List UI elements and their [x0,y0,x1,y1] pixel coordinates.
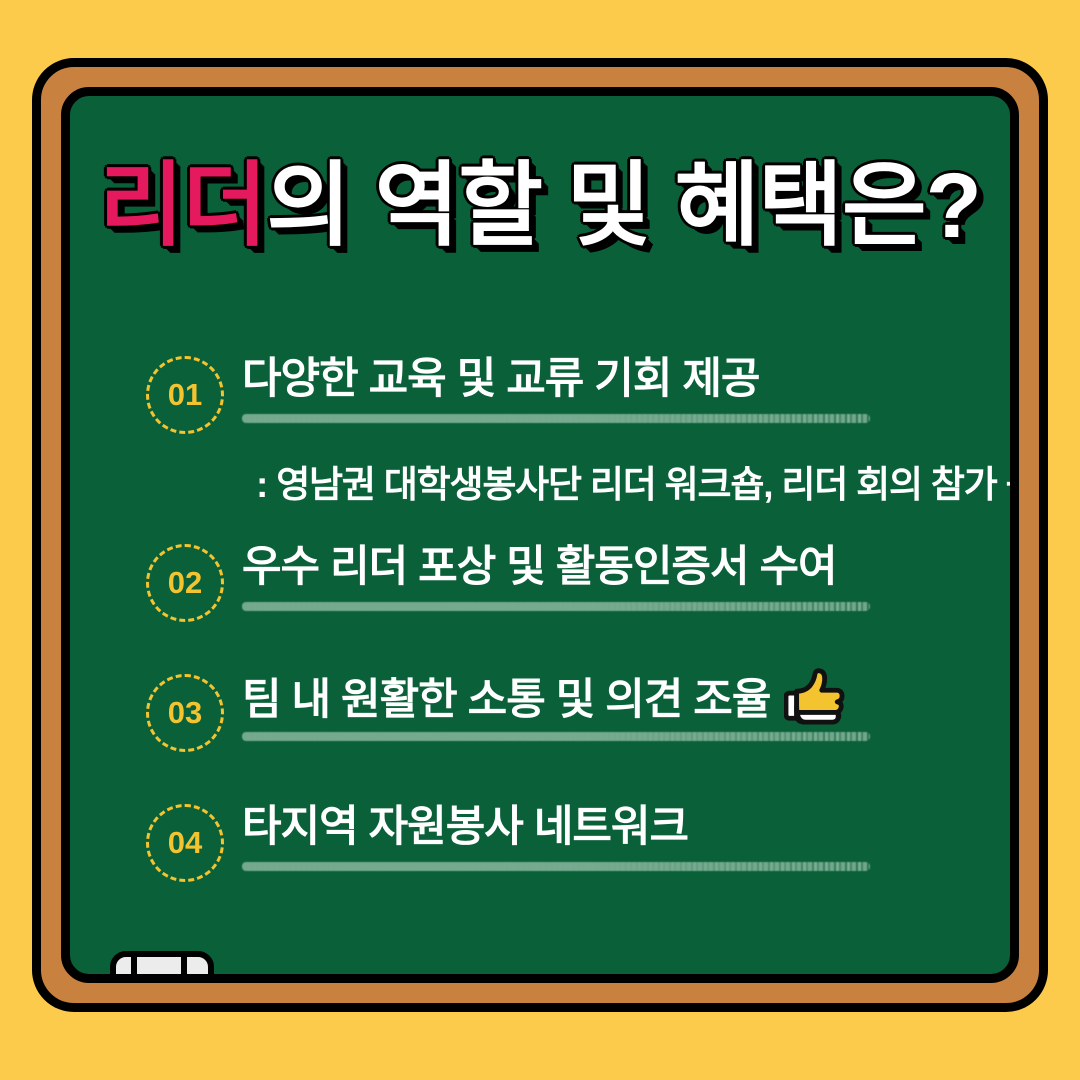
list-item-body: 다양한 교육 및 교류 기회 제공 [242,354,964,406]
title-rest: 의 역할 및 혜택은? [266,155,980,257]
badge-number: 01 [168,379,202,412]
chalkboard-frame: 리더의 역할 및 혜택은? 01 다양한 교육 및 교류 기회 제공 : 영남권… [32,58,1048,1012]
number-badge-04: 04 [146,804,224,882]
badge-number: 03 [168,697,202,730]
chalkboard-eraser-icon [110,951,214,983]
list-item-body: 팀 내 원활한 소통 및 의견 조율 [242,672,964,730]
number-badge-01: 01 [146,356,224,434]
thumbs-up-icon [784,668,846,726]
chalk-underline [242,732,870,741]
sub-detail-row: : 영남권 대학생봉사단 리더 워크숍, 리더 회의 참가 등 [70,450,1010,516]
sub-detail-text: : 영남권 대학생봉사단 리더 워크숍, 리더 회의 참가 등 [256,454,1019,508]
list-item-label: 우수 리더 포상 및 활동인증서 수여 [242,542,837,594]
chalkboard-surface: 리더의 역할 및 혜택은? 01 다양한 교육 및 교류 기회 제공 : 영남권… [61,87,1019,983]
benefits-list: 01 다양한 교육 및 교류 기회 제공 : 영남권 대학생봉사단 리더 워크숍… [70,344,1010,922]
list-item-label: 팀 내 원활한 소통 및 의견 조율 [242,675,770,727]
list-item-body: 우수 리더 포상 및 활동인증서 수여 [242,542,964,594]
badge-number: 04 [168,827,202,860]
number-badge-03: 03 [146,674,224,752]
page-title: 리더의 역할 및 혜택은? [99,158,981,255]
chalk-underline [242,414,870,423]
eraser-segment-middle [137,957,187,983]
list-item[interactable]: 03 팀 내 원활한 소통 및 의견 조율 [70,662,1010,762]
poster-canvas: 리더의 역할 및 혜택은? 01 다양한 교육 및 교류 기회 제공 : 영남권… [0,0,1080,1080]
number-badge-02: 02 [146,544,224,622]
eraser-segment-right [187,957,208,983]
list-item[interactable]: 02 우수 리더 포상 및 활동인증서 수여 [70,532,1010,632]
list-item-body: 타지역 자원봉사 네트워크 [242,802,964,854]
list-item-label: 타지역 자원봉사 네트워크 [242,802,688,854]
eraser-segment-left [116,957,137,983]
chalk-underline [242,862,870,871]
title-area: 리더의 역할 및 혜택은? [70,158,1010,255]
list-item[interactable]: 01 다양한 교육 및 교류 기회 제공 [70,344,1010,444]
badge-number: 02 [168,567,202,600]
list-item-label: 다양한 교육 및 교류 기회 제공 [242,354,759,406]
list-item[interactable]: 04 타지역 자원봉사 네트워크 [70,792,1010,892]
chalk-underline [242,602,870,611]
title-accent: 리더 [99,155,266,257]
